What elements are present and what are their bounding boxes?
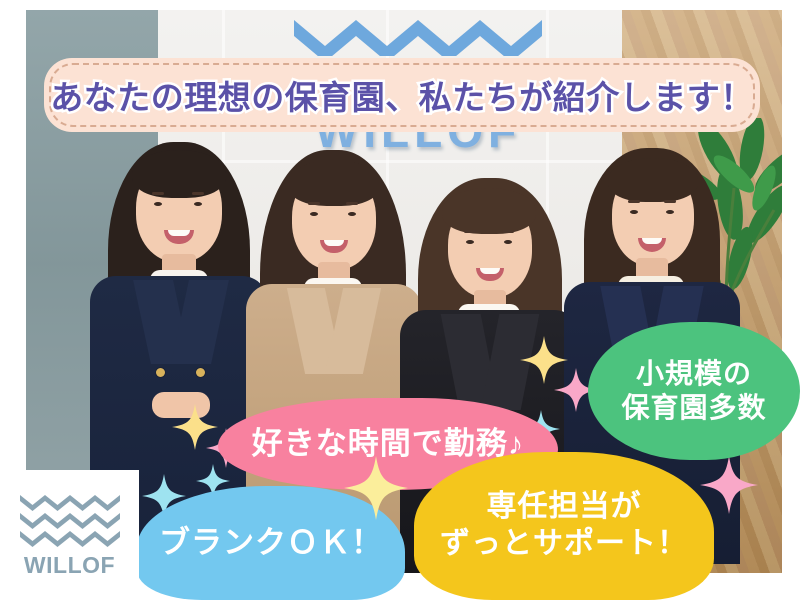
callout-green-text: 小規模の 保育園多数 bbox=[588, 322, 800, 460]
callout-green-line-1: 小規模の bbox=[636, 357, 752, 391]
callout-green: 小規模の 保育園多数 bbox=[588, 322, 800, 460]
callout-yellow-line-1: 専任担当が bbox=[487, 489, 642, 526]
callout-blue-line-1: ブランクＯＫ！ bbox=[159, 524, 383, 562]
callout-yellow-line-2: ずっとサポート！ bbox=[440, 526, 688, 563]
wall-chevron-row bbox=[294, 16, 542, 56]
willof-chevron-mark bbox=[20, 492, 120, 548]
headline-text: あなたの理想の保育園、私たちが紹介します！ bbox=[50, 71, 754, 119]
callout-yellow: 専任担当が ずっとサポート！ bbox=[414, 452, 714, 600]
headline-banner: あなたの理想の保育園、私たちが紹介します！ bbox=[44, 58, 760, 132]
callout-yellow-text: 専任担当が ずっとサポート！ bbox=[414, 452, 714, 600]
sparkle-icon bbox=[344, 456, 408, 520]
callout-green-line-2: 保育園多数 bbox=[621, 391, 766, 425]
willof-logo-card: WILLOF bbox=[0, 470, 139, 600]
advertisement-banner: WILLOF bbox=[0, 0, 800, 600]
willof-wordmark: WILLOF bbox=[24, 552, 115, 579]
